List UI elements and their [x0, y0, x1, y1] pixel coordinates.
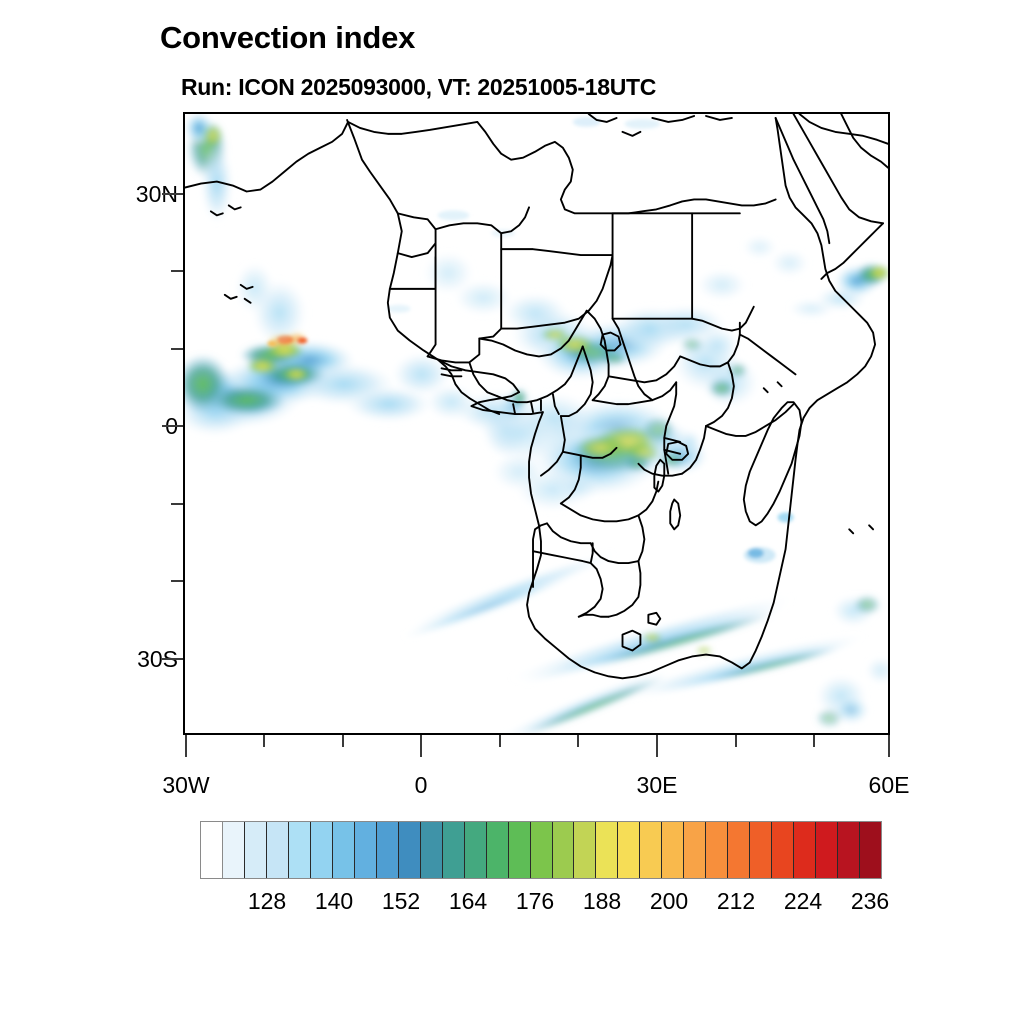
colorbar-cell-1: [223, 822, 245, 878]
colorbar-cell-8: [377, 822, 399, 878]
x-tick-label-0: 0: [361, 772, 481, 799]
colorbar-label-212: 212: [701, 888, 771, 915]
feature-se-indian-ocean-cells: [815, 595, 888, 728]
border-namibia-botswana-north: [547, 523, 591, 543]
colorbar-cell-23: [706, 822, 728, 878]
reunion-island: [869, 525, 873, 529]
colorbar-cell-13: [487, 822, 509, 878]
colorbar-cell-14: [509, 822, 531, 878]
colorbar-cell-15: [531, 822, 553, 878]
colorbar[interactable]: [200, 821, 882, 879]
madagascar-coastline: [744, 402, 802, 525]
med-coast-north-africa: [348, 122, 477, 134]
colorbar-cell-4: [289, 822, 311, 878]
colorbar-label-224: 224: [768, 888, 838, 915]
colorbar-cell-20: [640, 822, 662, 878]
colorbar-cell-30: [860, 822, 881, 878]
feature-nw-atlantic-wisps: [185, 114, 307, 346]
x-major-tick-60e: [888, 735, 890, 757]
lake-malawi: [670, 500, 680, 530]
y-major-tick-30s: [162, 658, 183, 660]
colorbar-cell-11: [443, 822, 465, 878]
border-mozambique-west: [609, 561, 641, 617]
malta-coast: [623, 132, 641, 136]
chart-title: Convection index: [160, 20, 415, 56]
x-major-tick-30w: [185, 735, 187, 757]
map-plot-area[interactable]: [183, 112, 890, 735]
colorbar-cell-18: [596, 822, 618, 878]
x-major-tick-30e: [656, 735, 658, 757]
comoros-islands-2: [764, 388, 768, 392]
colorbar-cell-24: [728, 822, 750, 878]
colorbar-cell-5: [311, 822, 333, 878]
border-morocco: [398, 213, 436, 257]
x-tick-label-30w: 30W: [126, 772, 246, 799]
y-minor-tick-10s: [171, 503, 183, 505]
colorbar-label-152: 152: [366, 888, 436, 915]
x-minor-tick-10e: [499, 735, 501, 747]
colorbar-label-236: 236: [835, 888, 905, 915]
cape-verde-islands-2: [225, 295, 237, 299]
colorbar-cell-3: [267, 822, 289, 878]
colorbar-cell-2: [245, 822, 267, 878]
colorbar-label-200: 200: [634, 888, 704, 915]
red-sea-east-shore: [794, 114, 883, 223]
x-minor-tick-20w: [263, 735, 265, 747]
colorbar-cell-6: [333, 822, 355, 878]
colorbar-cell-27: [794, 822, 816, 878]
colorbar-cell-26: [772, 822, 794, 878]
y-minor-tick-20s: [171, 580, 183, 582]
colorbar-cell-22: [684, 822, 706, 878]
colorbar-label-164: 164: [433, 888, 503, 915]
y-minor-tick-20n: [171, 270, 183, 272]
x-minor-tick-20e: [577, 735, 579, 747]
x-minor-tick-10w: [342, 735, 344, 747]
colorbar-cell-29: [838, 822, 860, 878]
map-svg: [185, 114, 888, 733]
border-eswatini: [648, 613, 660, 625]
x-tick-label-60e: 60E: [829, 772, 949, 799]
colorbar-label-176: 176: [500, 888, 570, 915]
cyprus-coast: [706, 116, 732, 120]
colorbar-label-188: 188: [567, 888, 637, 915]
border-zambia-east: [638, 515, 644, 561]
x-tick-label-30e: 30E: [597, 772, 717, 799]
colorbar-cell-0: [201, 822, 223, 878]
figure-canvas: Convection index Run: ICON 2025093000, V…: [0, 0, 1024, 1024]
crete-coast: [652, 116, 694, 122]
colorbar-cell-28: [816, 822, 838, 878]
colorbar-cell-12: [465, 822, 487, 878]
y-major-tick-30n: [162, 193, 183, 195]
libya-egypt-coast: [477, 122, 775, 213]
colorbar-cell-10: [421, 822, 443, 878]
convection-field-layer: [185, 114, 888, 733]
chart-subtitle: Run: ICON 2025093000, VT: 20251005-18UTC: [181, 74, 656, 101]
colorbar-cell-16: [553, 822, 575, 878]
x-minor-tick-50e: [813, 735, 815, 747]
colorbar-cell-25: [750, 822, 772, 878]
y-minor-tick-10n: [171, 348, 183, 350]
feature-southern-frontal-bands: [396, 545, 869, 733]
colorbar-cell-7: [355, 822, 377, 878]
x-major-tick-0: [420, 735, 422, 757]
border-south-africa-north: [579, 615, 609, 617]
border-libya-south: [501, 213, 612, 255]
colorbar-label-128: 128: [232, 888, 302, 915]
colorbar-cell-17: [574, 822, 596, 878]
colorbar-label-140: 140: [299, 888, 369, 915]
colorbar-cell-21: [662, 822, 684, 878]
red-sea-west-shore: [776, 118, 830, 243]
y-major-tick-0: [162, 425, 183, 427]
colorbar-cell-19: [618, 822, 640, 878]
feature-arabian-wisps: [696, 235, 809, 301]
mauritius-island: [849, 529, 853, 533]
x-minor-tick-40e: [735, 735, 737, 747]
colorbar-cell-9: [399, 822, 421, 878]
canary-islands: [229, 205, 241, 209]
comoros-islands: [778, 382, 782, 386]
